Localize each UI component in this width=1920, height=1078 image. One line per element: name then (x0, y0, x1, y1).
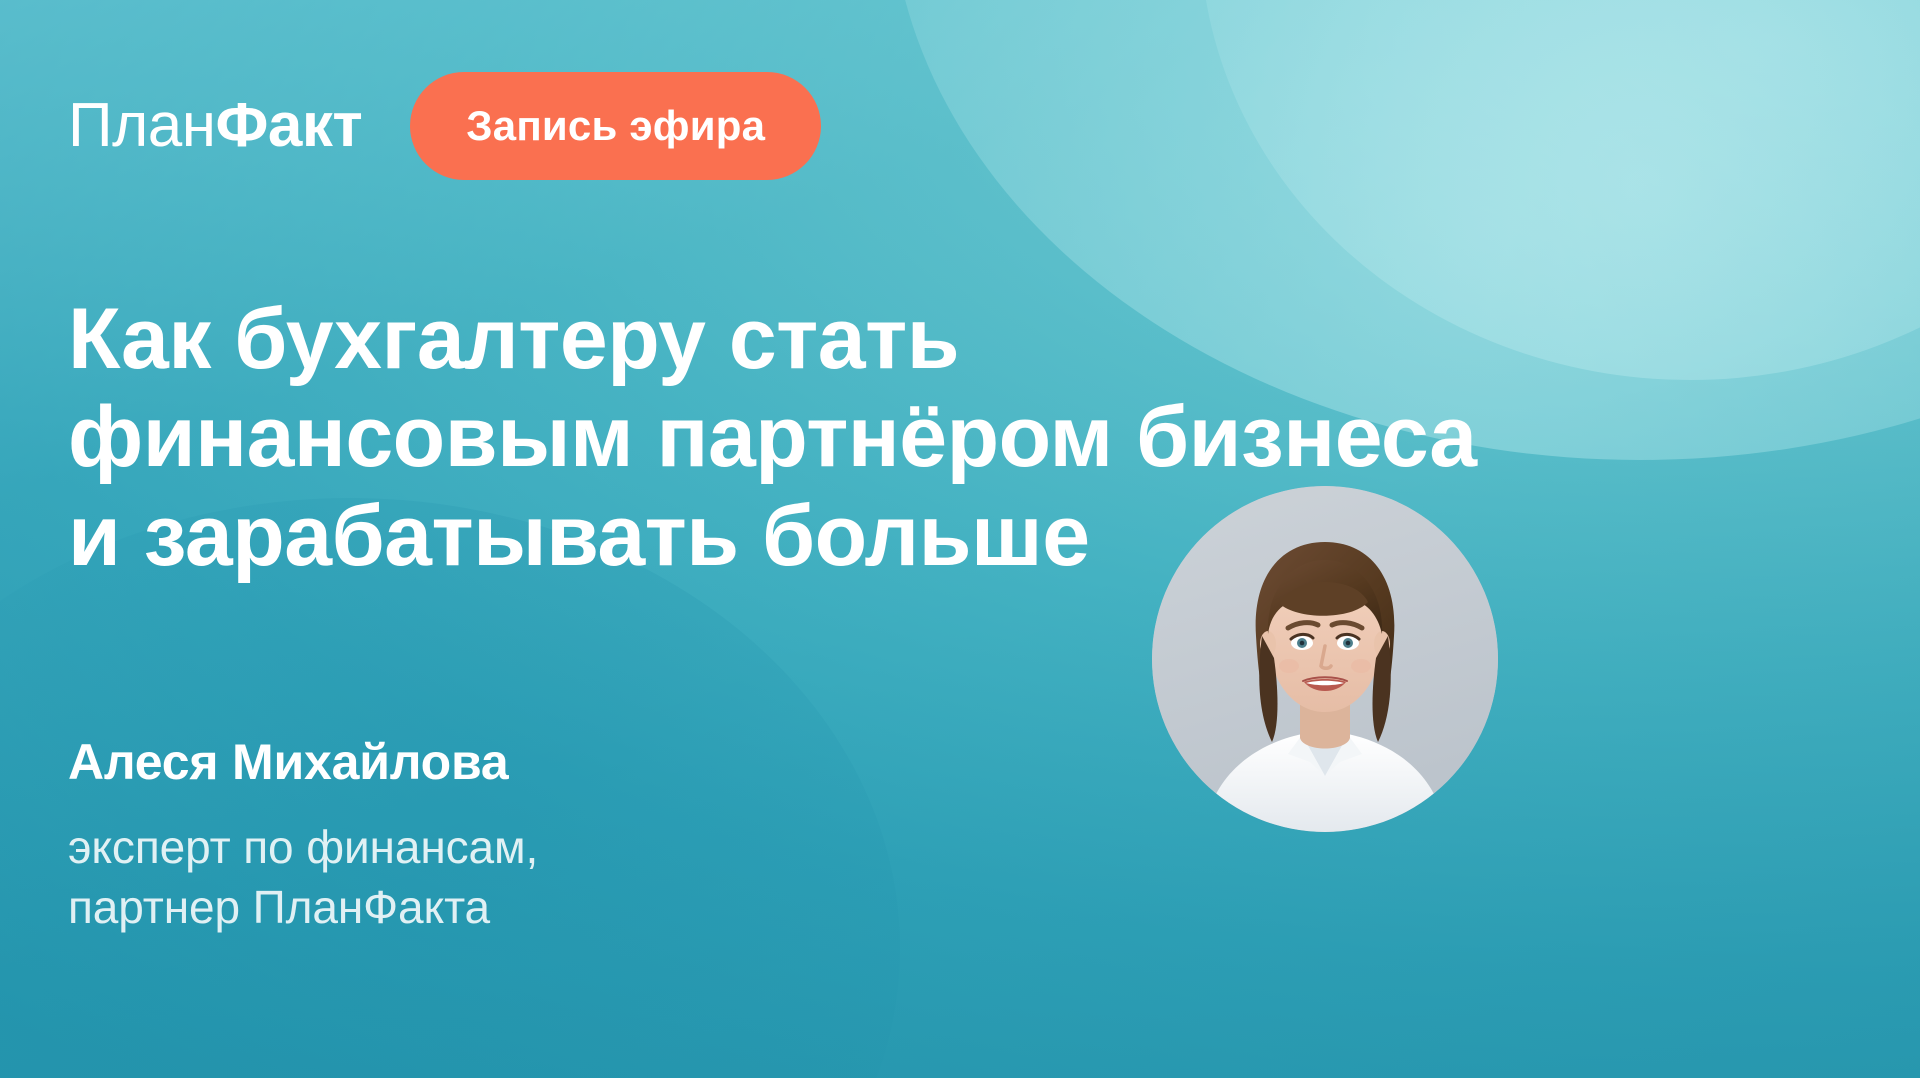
speaker-name: Алеся Михайлова (68, 735, 828, 790)
brand-logo[interactable]: ПланФакт (68, 95, 362, 157)
headline-line-3: и зарабатывать больше (68, 487, 1248, 585)
speaker-role-line-2: партнер ПланФакта (68, 878, 828, 938)
recording-badge[interactable]: Запись эфира (410, 72, 821, 180)
avatar (1152, 486, 1498, 832)
brand-logo-light-part: План (68, 95, 215, 157)
page-title: Как бухгалтеру стать финансовым партнёро… (68, 290, 1248, 585)
webinar-cover-slide: ПланФакт Запись эфира Как бухгалтеру ста… (0, 0, 1920, 1078)
speaker-portrait-illustration (1152, 486, 1498, 832)
speaker-role-line-1: эксперт по финансам, (68, 818, 828, 878)
headline-line-1: Как бухгалтеру стать (68, 290, 1248, 388)
brand-logo-bold-part: Факт (215, 95, 362, 157)
headline-line-2: финансовым партнёром бизнеса (68, 388, 1248, 486)
speaker-block: Алеся Михайлова эксперт по финансам, пар… (68, 735, 828, 938)
header-row: ПланФакт Запись эфира (68, 72, 821, 180)
speaker-role: эксперт по финансам, партнер ПланФакта (68, 818, 828, 938)
